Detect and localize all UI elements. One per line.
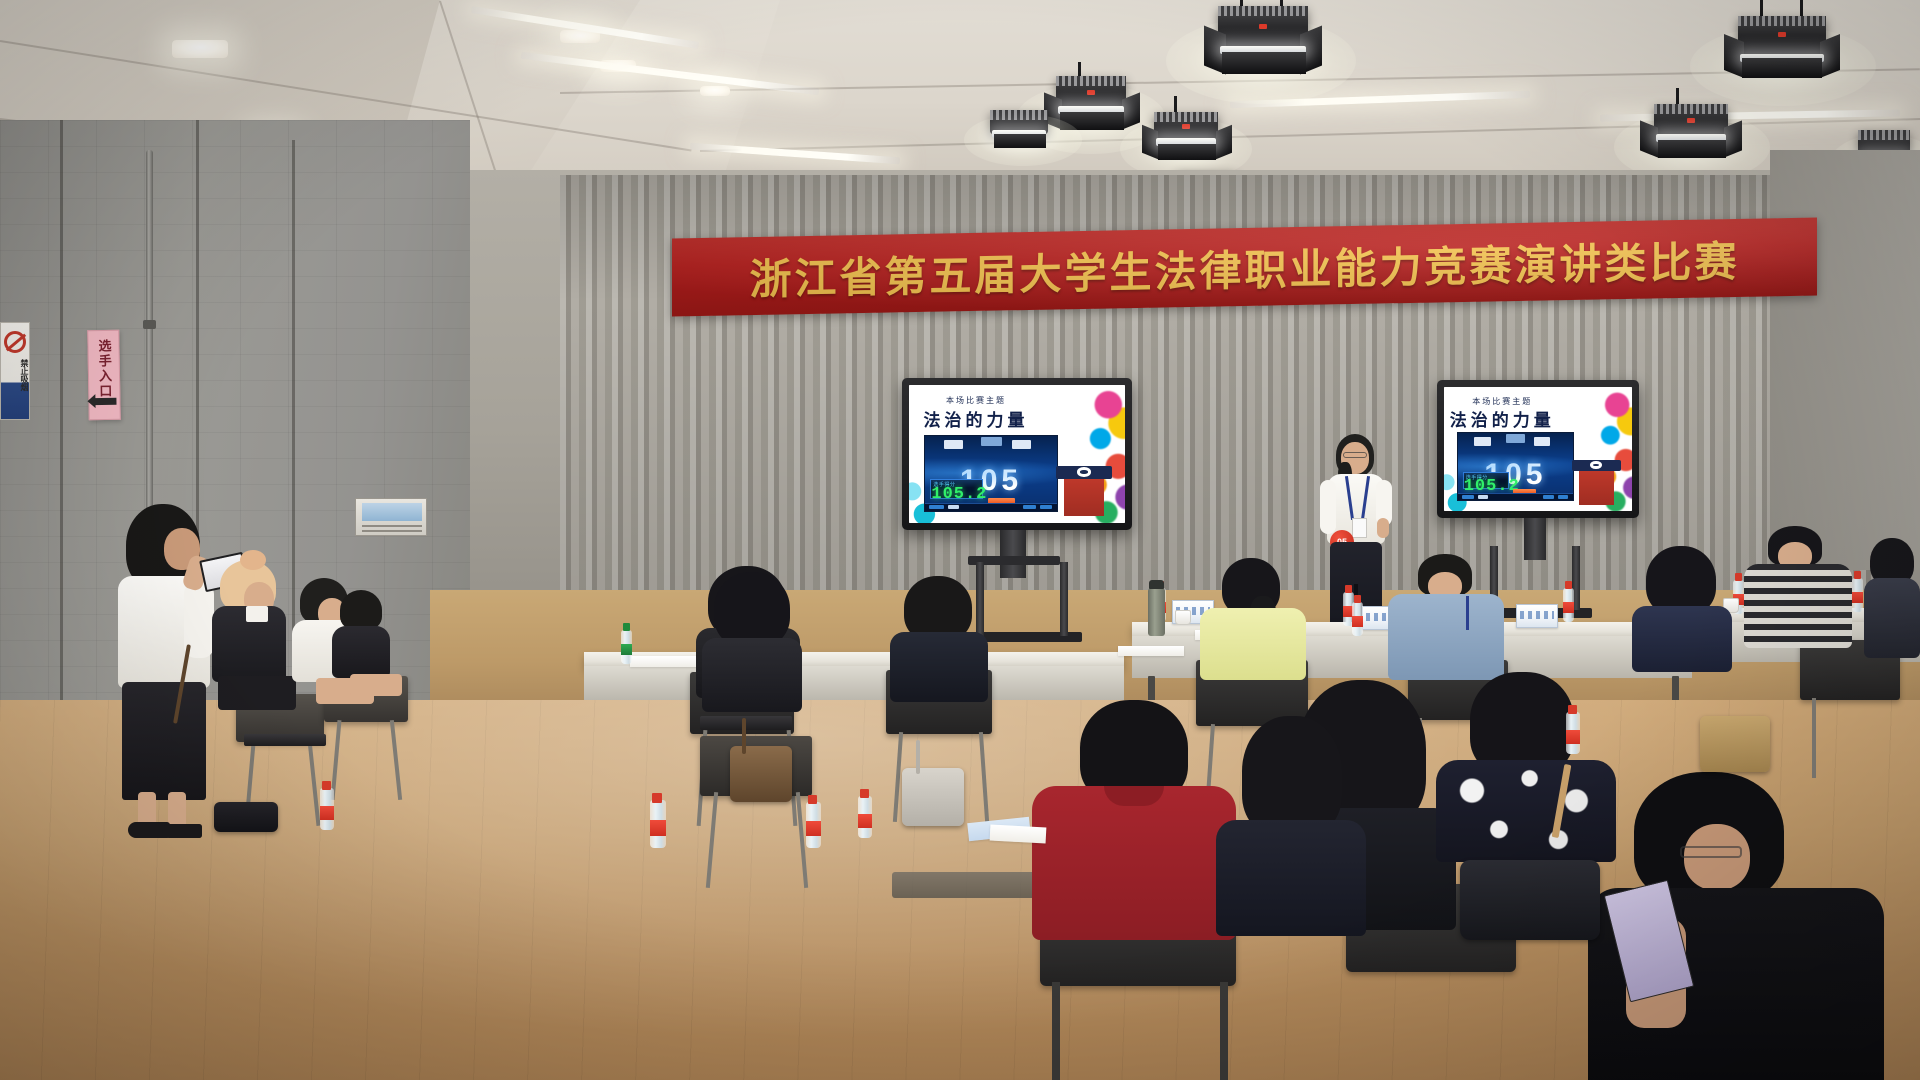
right-scoring-panel: 105 选手得分 105.2	[1457, 432, 1574, 501]
no-smoking-icon	[4, 331, 26, 353]
floor-water-bottle	[1566, 712, 1580, 754]
handbag-strap	[742, 718, 746, 754]
soda-can	[621, 630, 632, 664]
speaker-id-badge	[1352, 518, 1367, 538]
right-display-tv[interactable]: 本场比赛主题 法治的力量 105 选手得分 105.2	[1437, 380, 1639, 518]
right-panel-footer	[1458, 493, 1573, 500]
floor-water-bottle	[858, 796, 872, 838]
handbag	[1700, 716, 1770, 772]
audience-member	[886, 576, 992, 700]
backpack	[1460, 860, 1600, 940]
audience-member	[1744, 526, 1852, 646]
left-score-value: 105.2	[931, 485, 982, 504]
judge-member	[1198, 558, 1308, 678]
contestant-seated	[330, 590, 410, 700]
no-smoking-sign-label: 禁止吸烟	[3, 359, 29, 395]
right-score-label: 选手得分	[1466, 474, 1488, 481]
audience-member-foreground	[1216, 716, 1366, 936]
left-score-box: 选手得分 105.2	[930, 479, 983, 499]
audience-member-foreground	[1588, 768, 1888, 1080]
paper-cup	[1175, 610, 1191, 625]
tv-stand-neck	[1524, 518, 1546, 560]
speaker-water-bottle	[1352, 602, 1363, 636]
hair-bun	[240, 550, 266, 570]
audience-member-foreground	[1024, 700, 1244, 940]
no-smoking-sign: 禁止吸烟	[0, 322, 30, 420]
water-bottle	[1852, 578, 1863, 612]
handbag-strap	[916, 740, 920, 774]
floor-paper	[990, 825, 1047, 844]
arrow-left-icon	[94, 398, 116, 405]
floor-water-bottle	[650, 800, 666, 848]
stage-light-fixture	[1196, 0, 1326, 78]
slide-podium-graphic	[1572, 453, 1621, 505]
left-slide-subtitle: 本场比赛主题	[909, 395, 1043, 406]
left-scoring-panel: 105 选手得分 105.2	[924, 435, 1058, 512]
contestant-entrance-label: 选手入口	[94, 339, 114, 399]
stage-light-fixture	[1636, 100, 1746, 162]
tv-stand-leg	[1060, 562, 1068, 636]
thermos	[1148, 588, 1165, 636]
left-score-label: 选手得分	[933, 481, 955, 488]
glasses-icon	[1343, 452, 1367, 458]
competition-hall-photo: 禁止吸烟 选手入口 浙江省第五届大学生法律职业能力竞赛演讲类比赛 本场比赛主题 …	[0, 0, 1920, 1080]
judge-name-card	[1516, 604, 1558, 628]
stage-light-fixture	[1718, 10, 1846, 82]
right-display-screen: 本场比赛主题 法治的力量 105 选手得分 105.2	[1444, 387, 1632, 511]
judge-member	[1388, 554, 1504, 678]
contestant-entrance-sign: 选手入口	[87, 330, 121, 421]
ceiling-light	[172, 40, 228, 58]
wall-vent-box	[355, 498, 427, 536]
collar	[246, 606, 268, 622]
right-slide-title: 法治的力量	[1444, 406, 1561, 431]
left-display-tv[interactable]: 本场比赛主题 法治的力量 105 选手得分 105.2	[902, 378, 1132, 530]
left-display-screen: 本场比赛主题 法治的力量 105 选手得分 105.2	[909, 385, 1125, 523]
glasses-icon	[1680, 846, 1742, 858]
handbag	[730, 746, 792, 802]
floor-bag	[214, 802, 278, 832]
audience-table-left-skirt	[584, 666, 1124, 702]
shoe	[162, 824, 202, 838]
tv-stand-neck	[1000, 530, 1026, 578]
handbag	[902, 768, 964, 826]
judge-member	[1628, 546, 1736, 670]
audience-paper	[1118, 646, 1184, 656]
floor-water-bottle	[806, 802, 821, 848]
audience-member	[700, 572, 804, 712]
left-panel-footer	[925, 503, 1057, 511]
audience-paper	[630, 656, 702, 667]
stage-light-fixture	[1140, 108, 1232, 164]
audience-member	[1864, 538, 1920, 658]
slide-podium-graphic	[1056, 458, 1112, 516]
water-bottle	[1563, 588, 1574, 622]
floor-water-bottle	[320, 788, 334, 830]
left-slide-title: 法治的力量	[909, 406, 1043, 431]
stage-light-fixture	[980, 108, 1062, 154]
right-score-box: 选手得分 105.2	[1463, 472, 1509, 490]
right-wall	[1770, 150, 1920, 570]
ceiling-light	[700, 86, 730, 96]
